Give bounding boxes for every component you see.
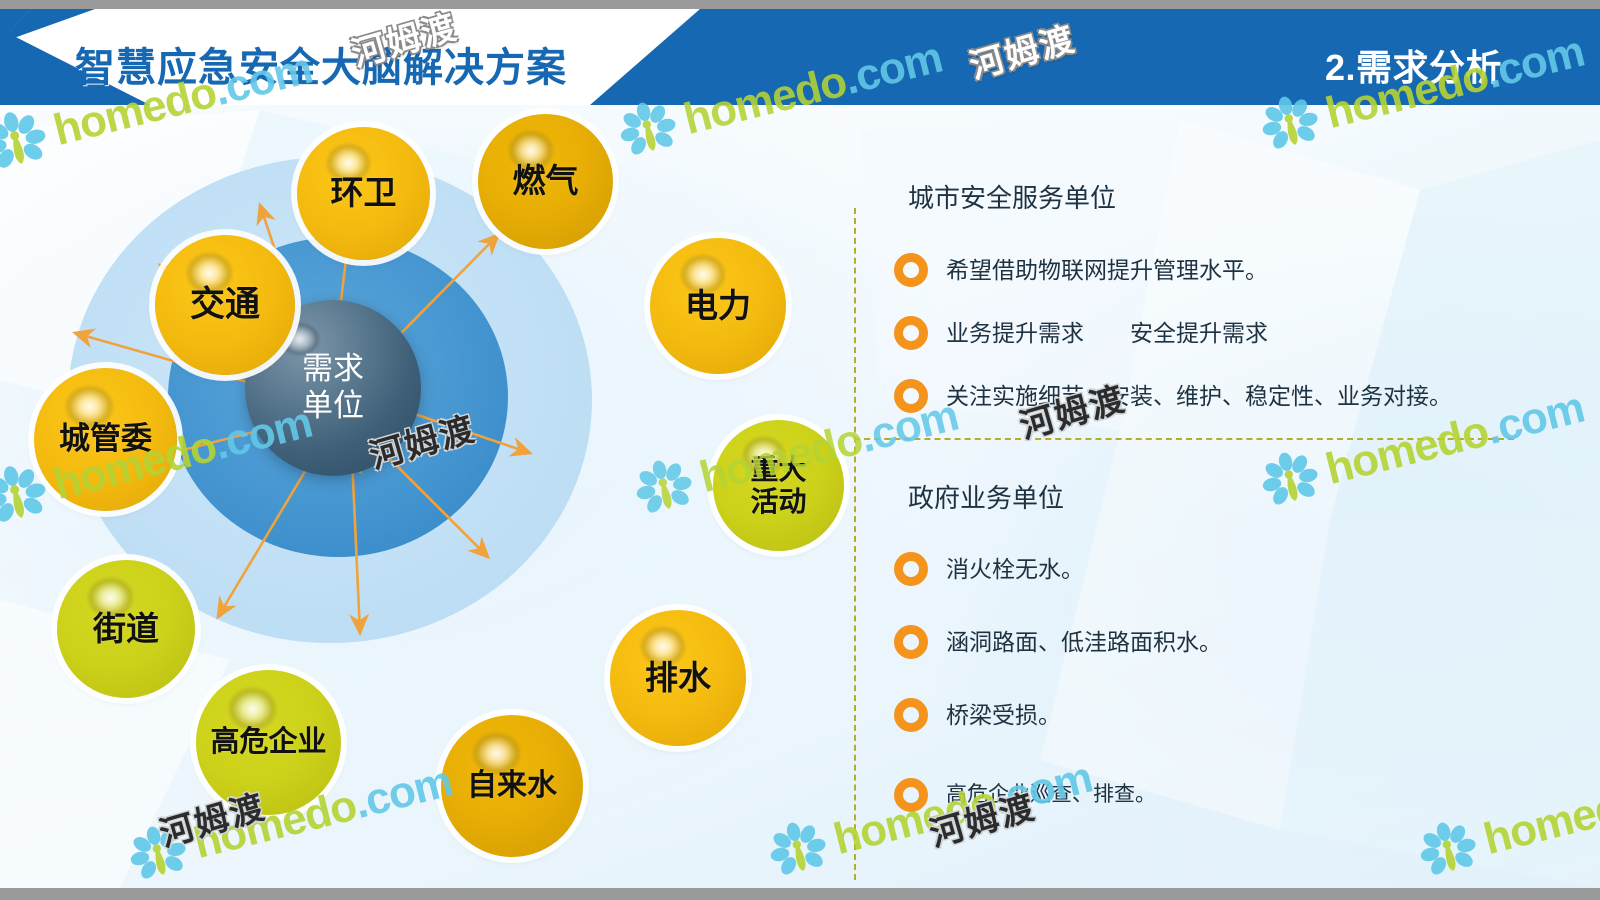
- bullet-item[interactable]: 关注实施细节：安装、维护、稳定性、业务对接。: [894, 379, 1452, 413]
- node-gaowei-qiye[interactable]: 高危企业: [196, 670, 341, 815]
- node-jiedao[interactable]: 街道: [57, 560, 195, 698]
- bullet-item[interactable]: 业务提升需求 安全提升需求: [894, 316, 1268, 350]
- bullet-ring-icon: [894, 698, 928, 732]
- node-label-jiedao: 街道: [93, 612, 159, 647]
- node-ranqi[interactable]: 燃气: [478, 114, 613, 249]
- node-huanwei[interactable]: 环卫: [297, 127, 430, 260]
- node-label-zilaishui: 自来水: [467, 770, 557, 802]
- panel-horizontal-divider: [854, 438, 1514, 440]
- bullet-text: 涵洞路面、低洼路面积水。: [946, 628, 1222, 657]
- bullet-ring-icon: [894, 552, 928, 586]
- bullet-item[interactable]: 高危企业巡查、排查。: [894, 778, 1156, 812]
- bullet-item[interactable]: 消火栓无水。: [894, 552, 1084, 586]
- requirement-units-diagram: 需求 单位 环卫 燃气 交通 电力 城管委 重大 活动 街道: [0, 105, 860, 900]
- bullet-item[interactable]: 桥梁受损。: [894, 698, 1061, 732]
- bullet-text: 桥梁受损。: [946, 701, 1061, 730]
- page-title: 智慧应急安全大脑解决方案: [75, 35, 567, 93]
- bullet-text: 高危企业巡查、排查。: [946, 782, 1156, 808]
- node-label-dianli: 电力: [685, 289, 751, 324]
- node-label-huanwei: 环卫: [331, 176, 397, 211]
- center-node-label-line2: 单位: [302, 388, 364, 423]
- bullet-item[interactable]: 希望借助物联网提升管理水平。: [894, 253, 1268, 287]
- node-chengguanwei[interactable]: 城管委: [34, 368, 177, 511]
- bullet-item[interactable]: 涵洞路面、低洼路面积水。: [894, 625, 1222, 659]
- bullet-ring-icon: [894, 778, 928, 812]
- slide-header: 智慧应急安全大脑解决方案 2.需求分析: [0, 9, 1600, 105]
- group1-title: 城市安全服务单位: [908, 178, 1116, 215]
- center-node-label-line1: 需求: [302, 351, 364, 386]
- node-label-zhongda-line2: 活动: [750, 486, 806, 517]
- node-paishui[interactable]: 排水: [610, 610, 746, 746]
- bullet-ring-icon: [894, 316, 928, 350]
- node-label-chengguanwei: 城管委: [59, 423, 152, 456]
- node-label-zhongda-line1: 重大: [750, 454, 806, 485]
- panel-vertical-divider: [854, 208, 856, 880]
- node-zilaishui[interactable]: 自来水: [441, 715, 583, 857]
- section-title: 2.需求分析: [1325, 39, 1502, 91]
- bullet-ring-icon: [894, 625, 928, 659]
- bullet-ring-icon: [894, 379, 928, 413]
- node-label-ranqi: 燃气: [513, 164, 579, 199]
- node-dianli[interactable]: 电力: [650, 238, 786, 374]
- requirements-panel: 城市安全服务单位 希望借助物联网提升管理水平。 业务提升需求 安全提升需求 关注…: [860, 120, 1600, 880]
- node-jiaotong[interactable]: 交通: [155, 235, 295, 375]
- bottom-grey-strip: [0, 888, 1600, 900]
- slide-canvas: 智慧应急安全大脑解决方案 2.需求分析: [0, 0, 1600, 900]
- node-label-gaowei: 高危企业: [210, 727, 326, 757]
- bullet-text: 希望借助物联网提升管理水平。: [946, 256, 1268, 285]
- bullet-text: 消火栓无水。: [946, 555, 1084, 584]
- node-label-jiaotong: 交通: [190, 287, 260, 324]
- bullet-text: 业务提升需求 安全提升需求: [946, 319, 1268, 348]
- bullet-ring-icon: [894, 253, 928, 287]
- node-zhongda-huodong[interactable]: 重大 活动: [713, 420, 844, 551]
- top-grey-strip: [0, 0, 1600, 9]
- node-label-paishui: 排水: [645, 661, 711, 696]
- bullet-text: 关注实施细节：安装、维护、稳定性、业务对接。: [946, 382, 1452, 411]
- group2-title: 政府业务单位: [908, 478, 1064, 515]
